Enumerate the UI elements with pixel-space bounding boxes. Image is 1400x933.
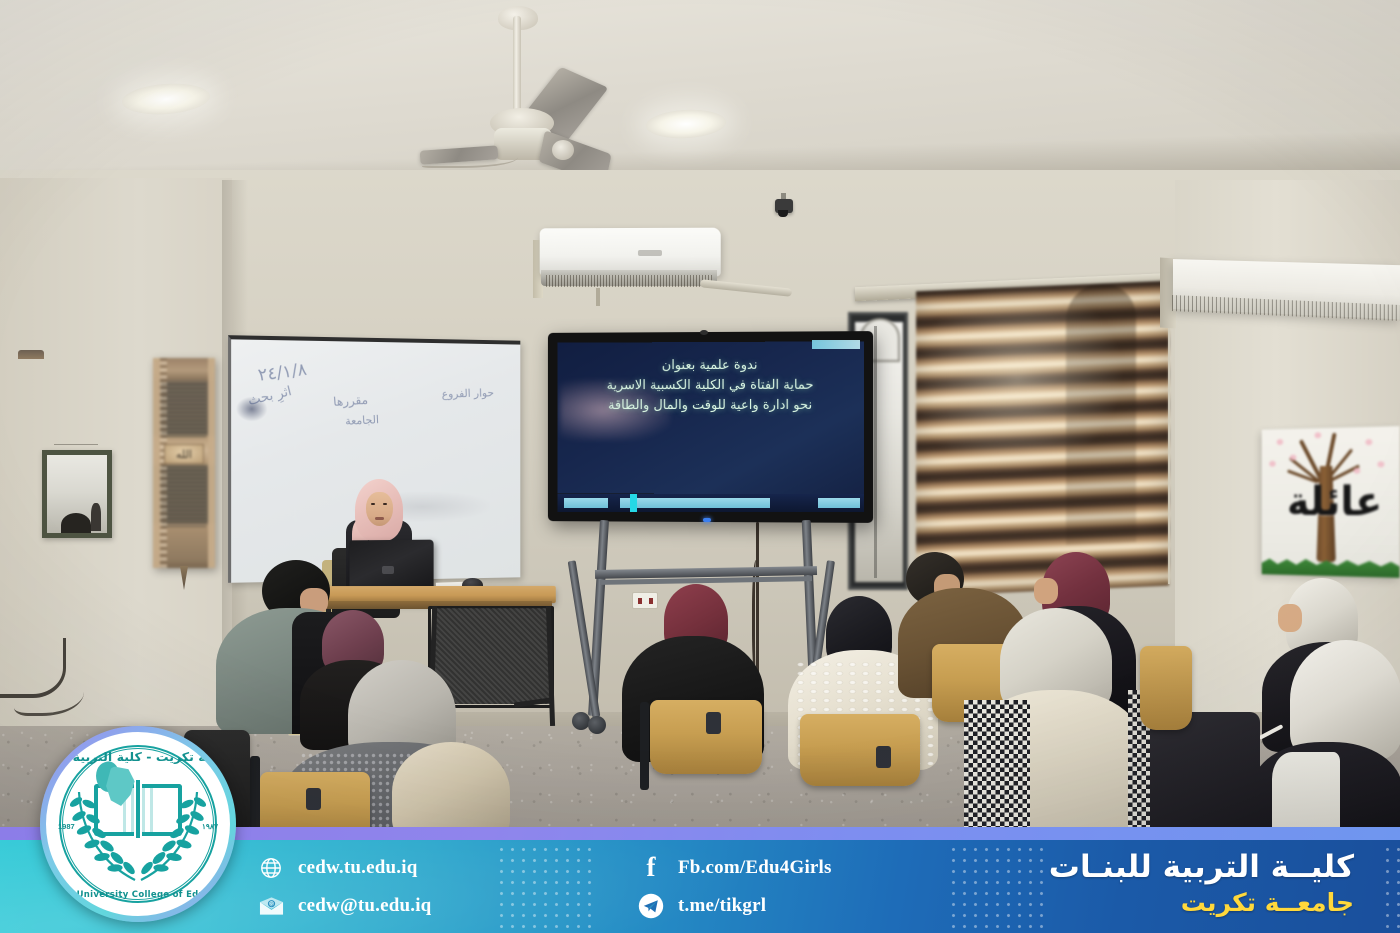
ac-brand-mark bbox=[638, 250, 662, 256]
telegram-handle: t.me/tikgrl bbox=[678, 895, 766, 917]
envelope-icon: @ bbox=[258, 893, 284, 919]
socket-slot bbox=[649, 598, 653, 604]
poster-arabic-word: عائلة bbox=[1278, 482, 1391, 523]
tv-camera-icon bbox=[700, 330, 708, 335]
whiteboard-text: مقررها bbox=[333, 393, 369, 409]
footer-telegram-row[interactable]: t.me/tikgrl bbox=[638, 893, 832, 919]
picture-hanger bbox=[54, 444, 98, 449]
person-face-profile bbox=[1278, 604, 1302, 632]
presenter-eye bbox=[371, 503, 375, 505]
whiteboard-text: الجامعة bbox=[345, 413, 379, 428]
presenter-face bbox=[366, 492, 393, 526]
svg-text:@: @ bbox=[269, 902, 274, 908]
picture-figure bbox=[91, 503, 101, 531]
taskbar-button[interactable] bbox=[564, 498, 608, 508]
college-brand: كليــة التربية للبنـات جامعــة تكريت bbox=[1049, 848, 1354, 918]
logo-arabic-ring-text: جامعة تكريت - كلية التربية للبنات bbox=[46, 750, 230, 764]
footer-facebook-row[interactable]: f Fb.com/Edu4Girls bbox=[638, 855, 832, 881]
striped-roller-blind bbox=[916, 281, 1169, 597]
wall-socket[interactable] bbox=[632, 592, 658, 609]
chair-back[interactable] bbox=[800, 714, 920, 786]
taskbar-progress[interactable] bbox=[620, 498, 770, 508]
bag bbox=[1150, 712, 1260, 840]
footer-dot-pattern bbox=[496, 844, 592, 930]
presenter-eye bbox=[383, 503, 387, 505]
footer-website-row[interactable]: cedw.tu.edu.iq bbox=[258, 855, 431, 881]
ac-vent-louvers bbox=[546, 275, 712, 287]
laptop-logo bbox=[382, 566, 394, 574]
telegram-icon bbox=[638, 893, 664, 919]
slide-line-2: حماية الفتاة في الكلية الكسبية الاسرية bbox=[558, 376, 864, 397]
blossom bbox=[1353, 468, 1360, 474]
university-name-arabic: جامعــة تكريت bbox=[1049, 887, 1354, 918]
blossom bbox=[1277, 439, 1284, 445]
framed-picture-image bbox=[47, 455, 107, 533]
chair-seat-number bbox=[876, 746, 891, 768]
blossom bbox=[1315, 432, 1322, 438]
facebook-icon: f bbox=[638, 855, 664, 881]
chair-seat-number bbox=[706, 712, 721, 734]
taskbar-cursor bbox=[630, 494, 637, 512]
tapestry-medallion: الله bbox=[164, 444, 204, 464]
stand-caster bbox=[572, 712, 590, 730]
screen-toolbar-tab[interactable] bbox=[812, 340, 860, 349]
socket-slot bbox=[638, 598, 642, 604]
chair-seat-number bbox=[306, 788, 321, 810]
taskbar-button[interactable] bbox=[818, 498, 860, 508]
framed-picture bbox=[42, 450, 112, 538]
smart-tv-screen[interactable]: ندوة علمية بعنوان حماية الفتاة في الكلية… bbox=[558, 341, 864, 494]
blossom bbox=[1269, 461, 1276, 467]
facebook-handle: Fb.com/Edu4Girls bbox=[678, 857, 832, 879]
chair-back[interactable] bbox=[650, 700, 762, 774]
whiteboard-text: حوار الفروع bbox=[442, 386, 495, 400]
college-name-arabic: كليــة التربية للبنـات bbox=[1049, 848, 1354, 887]
slide-line-3: نحو ادارة واعية للوقت والمال والطاقة bbox=[558, 396, 864, 416]
person-beige-hijab bbox=[392, 742, 510, 840]
tapestry-calligraphy-block bbox=[162, 466, 206, 528]
laurel-wreath-icon bbox=[67, 786, 209, 890]
slide-text: ندوة علمية بعنوان حماية الفتاة في الكلية… bbox=[558, 355, 864, 416]
window-mullion bbox=[874, 326, 877, 578]
presenter-mouth bbox=[375, 517, 384, 520]
footer-dot-pattern bbox=[1382, 844, 1400, 930]
person-face-profile bbox=[1034, 578, 1058, 604]
ac-drain-pipe bbox=[596, 288, 600, 306]
tapestry-rod bbox=[18, 350, 44, 359]
footer-email-row[interactable]: @ cedw@tu.edu.iq bbox=[258, 893, 431, 919]
tapestry-calligraphy-block bbox=[162, 384, 206, 440]
camera-lens-icon bbox=[778, 210, 788, 217]
picture-figure bbox=[61, 513, 91, 533]
islamic-wall-tapestry: الله bbox=[153, 358, 215, 568]
footer-social: f Fb.com/Edu4Girls t.me/tikgrl bbox=[638, 840, 832, 933]
fan-motor-cap bbox=[552, 140, 574, 160]
chair-arm bbox=[640, 702, 649, 790]
whiteboard-text: ٢٤/١/٨ bbox=[257, 360, 308, 386]
email-address: cedw@tu.edu.iq bbox=[298, 895, 431, 917]
website-url: cedw.tu.edu.iq bbox=[298, 857, 417, 879]
logo-disc: جامعة تكريت - كلية التربية للبنات 1987 ١… bbox=[46, 732, 230, 916]
stand-caster bbox=[588, 716, 606, 734]
chair-back[interactable] bbox=[1140, 646, 1192, 730]
fan-downrod bbox=[513, 16, 521, 116]
footer-contacts: cedw.tu.edu.iq @ cedw@tu.edu.iq bbox=[258, 840, 431, 933]
seminar-photograph: الله ٢٤/١/٨ اثرِ بحث مقررها الجامعة حوار… bbox=[0, 0, 1400, 840]
footer-dot-pattern bbox=[948, 844, 1044, 930]
power-led-icon bbox=[703, 518, 711, 522]
blossom bbox=[1377, 461, 1384, 467]
slide-line-1: ندوة علمية بعنوان bbox=[558, 355, 864, 376]
whiteboard-text: اثرِ بحث bbox=[246, 384, 293, 409]
globe-icon bbox=[258, 855, 284, 881]
logo-english-ring-text: Tikrit University College of Education f… bbox=[46, 890, 230, 900]
family-tree-poster: عائلة bbox=[1262, 426, 1400, 578]
screenshot-root: الله ٢٤/١/٨ اثرِ بحث مقررها الجامعة حوار… bbox=[0, 0, 1400, 933]
coat-check-pattern bbox=[964, 700, 1030, 840]
blind-daylight-glow bbox=[916, 281, 1169, 597]
college-logo-seal: جامعة تكريت - كلية التربية للبنات 1987 ١… bbox=[40, 726, 236, 922]
blind-pull-cord[interactable] bbox=[1168, 284, 1170, 584]
blossom bbox=[1365, 439, 1372, 445]
